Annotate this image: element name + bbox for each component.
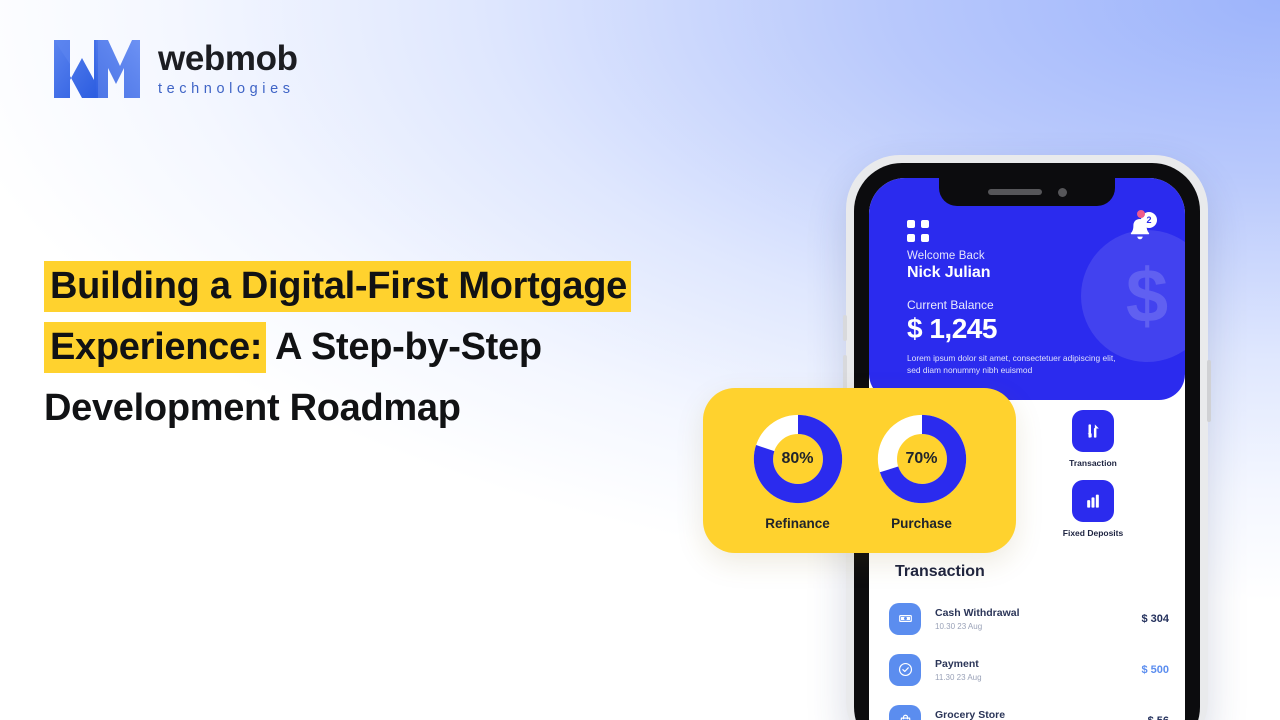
transaction-title: Cash Withdrawal xyxy=(935,607,1141,619)
headline-line-3: Development Roadmap xyxy=(44,380,764,437)
grid-dot xyxy=(921,220,929,228)
earpiece-speaker-icon xyxy=(988,189,1042,195)
headline-highlight-1: Building a Digital-First Mortgage xyxy=(44,261,631,312)
donut-chart-refinance: 80% xyxy=(750,411,846,507)
balance-label: Current Balance xyxy=(907,298,997,312)
donut-label-purchase: Purchase xyxy=(891,516,952,531)
grid-dot xyxy=(921,234,929,242)
phone-mute-switch[interactable] xyxy=(843,315,847,341)
stat-refinance[interactable]: 80% Refinance xyxy=(750,411,846,531)
headline-plain-2: A Step-by-Step xyxy=(275,326,542,368)
transaction-info: Cash Withdrawal 10.30 23 Aug xyxy=(935,607,1141,631)
quick-action-fixed-deposits[interactable]: Fixed Deposits xyxy=(1047,480,1139,538)
stat-purchase[interactable]: 70% Purchase xyxy=(874,411,970,531)
transaction-title: Grocery Store xyxy=(935,709,1148,720)
banknote-icon xyxy=(889,603,921,635)
welcome-label: Welcome Back xyxy=(907,250,997,262)
front-camera-icon xyxy=(1058,188,1067,197)
wm-monogram-icon xyxy=(50,34,142,104)
transactions-list: Cash Withdrawal 10.30 23 Aug $ 304 Payme… xyxy=(889,593,1169,720)
transaction-title: Payment xyxy=(935,658,1141,670)
donut-label-refinance: Refinance xyxy=(765,516,830,531)
check-circle-icon xyxy=(889,654,921,686)
transfer-arrows-icon xyxy=(1072,410,1114,452)
quick-action-label: Transaction xyxy=(1069,458,1117,468)
quick-action-transaction[interactable]: Transaction xyxy=(1047,410,1139,468)
brand-name: webmob xyxy=(158,41,298,78)
transaction-amount: $ 56 xyxy=(1148,715,1169,720)
table-row[interactable]: Grocery Store 12.30 23 Aug $ 56 xyxy=(889,695,1169,720)
headline-highlight-2: Experience: xyxy=(44,322,266,373)
brand-logo[interactable]: webmob technologies xyxy=(50,34,298,104)
transactions-heading: Transaction xyxy=(895,563,985,581)
quick-action-label: Fixed Deposits xyxy=(1063,528,1123,538)
grid-menu-icon[interactable] xyxy=(907,220,929,242)
bar-chart-icon xyxy=(1072,480,1114,522)
headline-line-1: Building a Digital-First Mortgage xyxy=(44,258,764,315)
balance-value: $ 1,245 xyxy=(907,313,997,345)
donut-value-refinance: 80% xyxy=(750,411,846,507)
table-row[interactable]: Payment 11.30 23 Aug $ 500 xyxy=(889,644,1169,695)
brand-tagline: technologies xyxy=(158,81,298,97)
donut-chart-purchase: 70% xyxy=(874,411,970,507)
headline-line-2: Experience: A Step-by-Step xyxy=(44,319,764,376)
page-title: Building a Digital-First Mortgage Experi… xyxy=(44,258,764,441)
table-row[interactable]: Cash Withdrawal 10.30 23 Aug $ 304 xyxy=(889,593,1169,644)
transaction-info: Payment 11.30 23 Aug xyxy=(935,658,1141,682)
transaction-info: Grocery Store 12.30 23 Aug xyxy=(935,709,1148,720)
phone-notch xyxy=(939,178,1115,206)
transaction-amount: $ 304 xyxy=(1141,613,1169,625)
dollar-watermark-icon: $ xyxy=(1081,230,1185,362)
notification-alert-dot-icon xyxy=(1137,210,1145,218)
balance-hero-card: $ 2 Welcome Back Nick Julian Curren xyxy=(869,178,1185,400)
transaction-time: 10.30 23 Aug xyxy=(935,622,1141,631)
user-name: Nick Julian xyxy=(907,264,997,282)
phone-power-button[interactable] xyxy=(1207,360,1211,422)
grid-dot xyxy=(907,220,915,228)
shopping-bag-icon xyxy=(889,705,921,720)
transaction-time: 11.30 23 Aug xyxy=(935,673,1141,682)
donut-value-purchase: 70% xyxy=(874,411,970,507)
grid-dot xyxy=(907,234,915,242)
hero-description: Lorem ipsum dolor sit amet, consectetuer… xyxy=(907,352,1127,376)
transaction-amount: $ 500 xyxy=(1141,664,1169,676)
stats-card: 80% Refinance 70% Purchase xyxy=(703,388,1016,553)
hero-text-block: Welcome Back Nick Julian Current Balance… xyxy=(907,250,997,345)
